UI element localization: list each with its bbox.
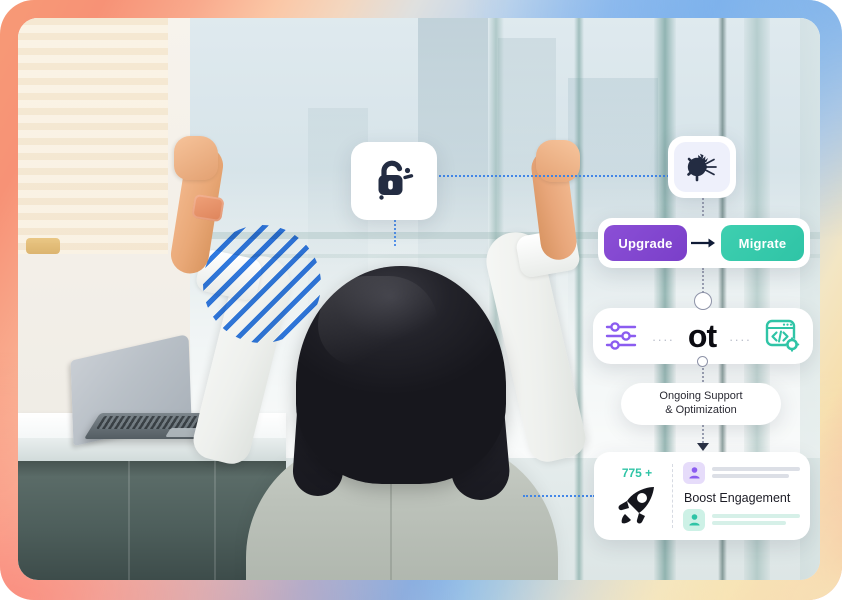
skeleton-lines-top xyxy=(712,467,800,478)
ot-dots-right: .... xyxy=(729,329,751,344)
skeleton-bar xyxy=(712,474,789,478)
skeleton-bar xyxy=(712,521,786,525)
engagement-left: 775 + xyxy=(604,460,670,532)
engagement-row-bottom xyxy=(683,509,800,531)
connector-lock-to-gear xyxy=(394,175,681,177)
hair-highlight xyxy=(318,276,438,366)
connector-gear-to-flow xyxy=(702,198,704,220)
gradient-frame: Upgrade Migrate .... xyxy=(0,0,842,600)
torso-seam xyxy=(390,468,392,580)
migrate-button[interactable]: Migrate xyxy=(721,225,804,261)
upgrade-button[interactable]: Upgrade xyxy=(604,225,687,261)
blue-diagonal-stripe-circle xyxy=(203,225,321,343)
skeleton-bar xyxy=(712,467,800,471)
rocket-icon xyxy=(615,484,659,526)
support-line-2: & Optimization xyxy=(665,404,737,418)
blind-edge xyxy=(26,238,60,254)
support-line-1: Ongoing Support xyxy=(659,390,742,404)
engagement-row-top xyxy=(683,462,800,484)
photo-stage: Upgrade Migrate .... xyxy=(18,18,820,580)
engagement-right: Boost Engagement xyxy=(675,460,800,532)
user-avatar-icon xyxy=(683,509,705,531)
cabinet-shadow xyxy=(18,461,286,477)
engagement-count: 775 + xyxy=(622,466,652,480)
arrow-right-icon xyxy=(691,237,717,249)
cabinet-seam xyxy=(128,461,130,580)
cabinet-seam xyxy=(214,461,216,580)
user-avatar-icon xyxy=(683,462,705,484)
lock-card[interactable] xyxy=(351,142,437,220)
gear-card[interactable] xyxy=(668,136,736,198)
flow-arrow-wrap xyxy=(691,225,717,261)
left-fist xyxy=(174,136,218,180)
open-padlock-icon xyxy=(373,158,415,204)
user-glyph-icon xyxy=(688,513,701,526)
gear-tile xyxy=(674,142,730,192)
boost-engagement-card: 775 + xyxy=(594,452,810,540)
flow-node-small xyxy=(697,356,708,367)
sliders-settings-icon xyxy=(605,321,639,351)
migrate-label: Migrate xyxy=(739,236,787,251)
window-blind xyxy=(18,18,168,254)
boost-engagement-label: Boost Engagement xyxy=(681,490,793,506)
user-glyph-icon xyxy=(688,466,701,479)
engagement-divider xyxy=(672,464,673,528)
ot-brand-text: ot xyxy=(688,320,716,352)
connector-left-to-engagement xyxy=(523,495,595,497)
skeleton-lines-bottom xyxy=(712,514,800,525)
ot-dots-left: .... xyxy=(652,329,674,344)
skeleton-bar xyxy=(712,514,800,518)
upgrade-migrate-card: Upgrade Migrate xyxy=(598,218,810,268)
wristwatch xyxy=(191,194,224,222)
upgrade-label: Upgrade xyxy=(618,236,672,251)
ongoing-support-card: Ongoing Support & Optimization xyxy=(621,383,781,425)
code-window-gear-icon xyxy=(765,319,801,353)
flow-node-large xyxy=(694,292,712,310)
connector-lock-down xyxy=(394,220,396,246)
cog-settings-icon xyxy=(685,152,719,182)
